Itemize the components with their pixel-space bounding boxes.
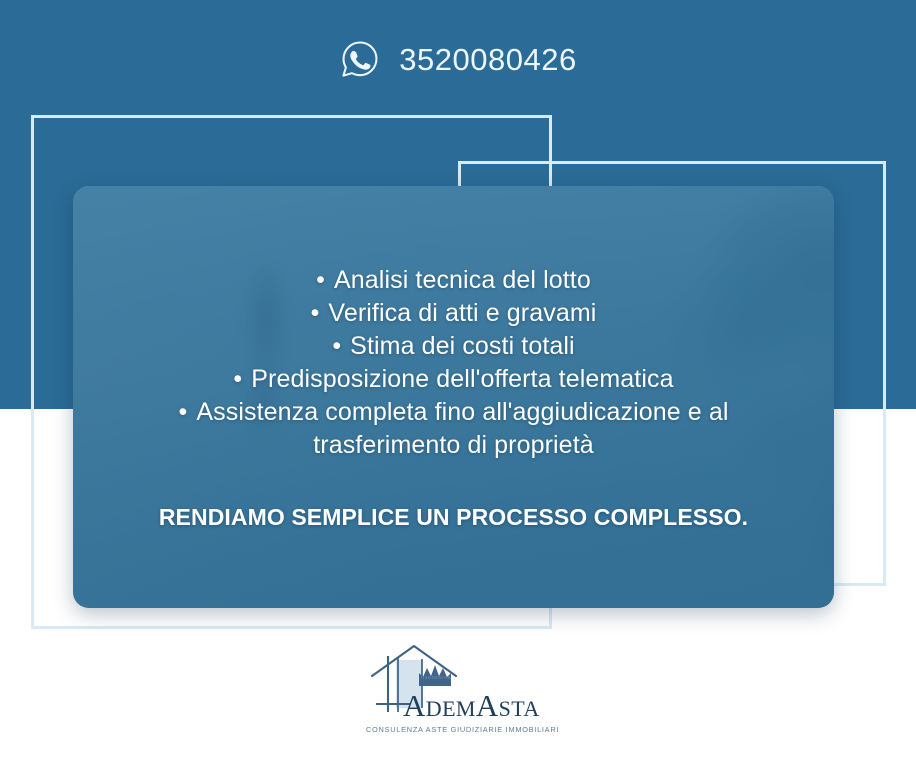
phone-number[interactable]: 3520080426	[399, 44, 576, 75]
list-item: Analisi tecnica del lotto	[107, 264, 800, 297]
list-item: Verifica di atti e gravami	[107, 297, 800, 330]
whatsapp-icon[interactable]	[339, 38, 381, 80]
card-content: Analisi tecnica del lotto Verifica di at…	[73, 186, 834, 608]
contact-header: 3520080426	[0, 33, 916, 85]
tagline-text: RENDIAMO SEMPLICE UN PROCESSO COMPLESSO.	[159, 504, 748, 531]
list-item: Assistenza completa fino all'aggiudicazi…	[107, 396, 800, 462]
service-bullet-list: Analisi tecnica del lotto Verifica di at…	[107, 264, 800, 462]
list-item: Predisposizione dell'offerta telematica	[107, 363, 800, 396]
content-card: Analisi tecnica del lotto Verifica di at…	[73, 186, 834, 608]
logo-wordmark: AdemAsta	[403, 688, 540, 724]
poster-canvas: 3520080426 Analisi tecnica del lotto Ver…	[0, 0, 916, 768]
logo-inner: GARDENIAR AdemAsta CONSULENZA ASTE GIUDI…	[358, 640, 558, 748]
logo-crown-label: GARDENIAR	[408, 675, 464, 680]
brand-logo[interactable]: GARDENIAR AdemAsta CONSULENZA ASTE GIUDI…	[0, 640, 916, 755]
list-item: Stima dei costi totali	[107, 330, 800, 363]
logo-subtitle: CONSULENZA ASTE GIUDIZIARIE IMMOBILIARI	[366, 725, 556, 734]
